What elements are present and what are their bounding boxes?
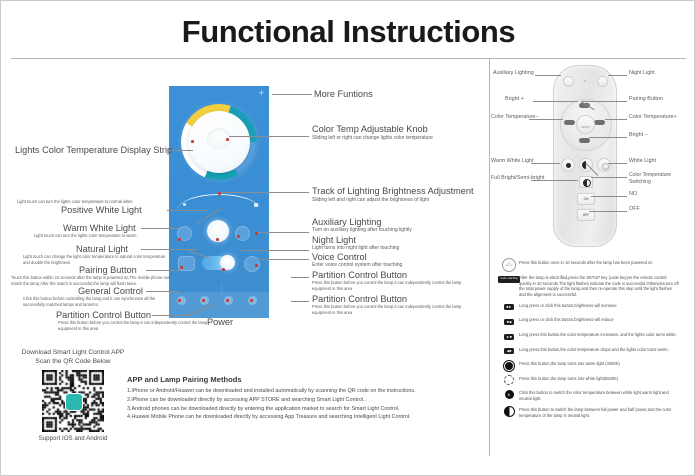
half-power-icon: [499, 406, 519, 417]
page-header: Functional Instructions: [1, 7, 695, 59]
hotspot-knob: [226, 138, 229, 141]
remote-label-bright-minus: Bright −: [629, 132, 648, 139]
color-temp-down-key-icon: ◀■: [499, 346, 519, 357]
callout-partition-left-desc: Press this button before you control the…: [58, 320, 208, 331]
slider-plus-icon: [254, 203, 258, 207]
list-item-text: Press this button once in 10 seconds aft…: [519, 259, 653, 266]
remote-label-auxiliary-lighting: Auxiliary Lighting: [493, 70, 534, 77]
remote-label-pairing-button: Pairing Button: [629, 96, 663, 103]
remote-label-white-light: White Light: [629, 158, 656, 165]
full-semi-bright-icon: [583, 179, 591, 187]
remote-label-warm-white: Warm White Light: [491, 158, 534, 165]
leader-color-temp-knob: [229, 136, 309, 137]
remote-label-color-temp-plus: Color Temperature+: [629, 114, 677, 121]
remote-label-color-temp-minus: Color Temperature−: [491, 114, 539, 121]
remote-indicator-led: [584, 80, 586, 82]
hotspot-partition-2: [226, 299, 229, 302]
setup-circle-icon: ☼ SETUP: [499, 259, 519, 270]
leader-power: [221, 283, 222, 317]
remote-label-full-bright-semi: Full Bright/Semi-bright: [491, 175, 544, 182]
callout-more-functions-label: More Funtions: [314, 89, 373, 99]
callout-partition-1-desc: Press this button before you control the…: [312, 280, 462, 291]
hotspot-pairing: [180, 266, 183, 269]
slider-minus-icon: [183, 203, 186, 206]
callout-night-light-label: Night Light: [312, 235, 356, 245]
app-btn-auxiliary[interactable]: [235, 226, 250, 241]
leader-remote-off: [589, 211, 627, 212]
callout-positive-white-desc: Light touch can turn the lights color te…: [17, 199, 133, 205]
hotspot-natural-light: [216, 238, 219, 241]
remote-label-night-light: Night Light: [629, 70, 655, 77]
code-matching-badge-icon: Code matching: [499, 274, 519, 285]
hotspot-partition-3: [250, 299, 253, 302]
list-item-text: Press this button to switch the lamp bet…: [519, 406, 681, 419]
list-item: K Click this button to switch the color …: [499, 389, 691, 402]
callout-color-temp-knob-desc: Sliding left or right can change lights …: [312, 135, 462, 142]
callout-warm-white-label: Warm White Light: [63, 223, 136, 233]
list-item: Code matching After the lamp is electrif…: [499, 274, 691, 299]
leader-night-light: [241, 250, 309, 251]
callout-voice-control-label: Voice Control: [312, 252, 367, 262]
list-item-text: Long press or click this button,brightne…: [519, 302, 617, 309]
callout-brightness-track-label: Track of Lighting Brightness Adjustment: [312, 186, 474, 196]
remote-btn-white-light[interactable]: [597, 158, 611, 172]
callout-partition-1-label: Partition Control Button: [312, 270, 407, 280]
warm-white-dot-icon: [566, 163, 571, 168]
pairing-heading: APP and Lamp Pairing Methods: [127, 375, 479, 384]
color-temp-up-key-icon: ►■: [499, 331, 519, 342]
callout-positive-white-label: Positive White Light: [61, 205, 142, 215]
callout-general-control-desc: Click this button before controlling the…: [23, 296, 173, 307]
callout-partition-2-label: Partition Control Button: [312, 294, 407, 304]
leader-remote-white-light: [608, 163, 627, 164]
brightness-slider[interactable]: [177, 194, 261, 206]
warm-light-dot-icon: [499, 360, 519, 371]
remote-label-on: NO: [629, 191, 637, 198]
pairing-item: 2.iPhone can be downloaded directly by a…: [127, 396, 479, 405]
list-item-text: Click this button to switch the color te…: [519, 389, 681, 402]
brightness-up-key-icon: ■►: [499, 302, 519, 313]
more-functions-icon[interactable]: +: [259, 89, 264, 98]
list-item: Press this button,the lamp turns into wh…: [499, 375, 691, 386]
leader-brightness-track: [221, 192, 309, 193]
color-temp-switch-icon: K: [499, 389, 519, 400]
remote-label-off: OFF: [629, 206, 640, 213]
remote-key-color-temp-minus[interactable]: [564, 120, 575, 125]
download-title-line1: Download Smart Light Control APP: [13, 349, 133, 358]
remote-body: SETUP ON OFF: [553, 65, 617, 247]
hotspot-auxiliary: [237, 235, 240, 238]
remote-label-bright-plus: Bright +: [505, 96, 524, 103]
list-item: ■► Long press or click this button,brigh…: [499, 302, 691, 313]
remote-btn-pairing-setup[interactable]: SETUP: [576, 115, 595, 134]
list-item-text: Press this button,the lamp turns into wa…: [519, 360, 620, 367]
qr-code: [42, 370, 104, 432]
hotspot-voice: [255, 264, 258, 267]
callout-power-label: Power: [207, 317, 233, 327]
leader-pairing: [146, 270, 181, 271]
pairing-methods-block: APP and Lamp Pairing Methods 1.iPhone or…: [127, 375, 479, 422]
remote-btn-auxiliary-lighting[interactable]: [563, 76, 574, 87]
callout-night-light-desc: Light turns into night light after touch…: [312, 245, 482, 252]
download-support-text: Support IOS and Android: [13, 435, 133, 442]
remote-btn-night-light[interactable]: [597, 76, 608, 87]
list-item: Press this button to switch the lamp bet…: [499, 406, 691, 419]
hotspot-partition-1: [202, 299, 205, 302]
hotspot-warm-white: [178, 238, 181, 241]
leader-remote-warm-white: [531, 163, 560, 164]
pairing-item: 1.iPhone or Android/Huawei can be downlo…: [127, 387, 479, 396]
leader-voice-control: [257, 259, 309, 260]
leader-remote-ct-switch: [591, 177, 627, 178]
remote-key-color-temp-plus[interactable]: [594, 120, 605, 125]
brightness-down-key-icon: ■◀: [499, 316, 519, 327]
hotspot-power: [222, 268, 225, 271]
leader-remote-bright-minus: [589, 137, 627, 138]
pairing-item: 3.Android phones can be downloaded direc…: [127, 405, 479, 414]
phone-app-mockup: +: [169, 86, 269, 318]
callout-natural-light-desc: Light touch can change the light color t…: [23, 254, 173, 265]
remote-on-label: ON: [578, 197, 594, 201]
callout-brightness-track-desc: Sliding left and right can adjust the br…: [312, 197, 482, 204]
list-item: Press this button,the lamp turns into wa…: [499, 360, 691, 371]
qr-center-logo: [65, 393, 83, 411]
leader-partition-2: [291, 301, 309, 302]
leader-partition-1: [291, 277, 309, 278]
callout-auxiliary-lighting-desc: Turn on auxiliary lighting after touchin…: [312, 227, 482, 234]
remote-off-label: OFF: [578, 213, 594, 217]
list-item: ■◀ Long press or click this button,brigh…: [499, 316, 691, 327]
leader-warm-white: [141, 228, 179, 229]
list-item-text: Long press this button,the color tempera…: [519, 346, 681, 353]
list-item: ☼ SETUP Press this button once in 10 sec…: [499, 259, 691, 270]
list-item: ►■ Long press this button,the color temp…: [499, 331, 691, 342]
callout-partition-left-label: Partition Control Button: [56, 310, 151, 320]
list-item-text: Long press this button,the color tempera…: [519, 331, 681, 338]
callout-natural-light-label: Natural Light: [76, 244, 128, 254]
leader-remote-pairing: [581, 101, 627, 102]
pairing-item: 4.Huawei Mobile Phone can be downloaded …: [127, 413, 479, 422]
callout-general-control-label: General Control: [78, 286, 143, 296]
remote-label-color-temp-switching: Color Temperature Switching: [629, 172, 685, 186]
list-item-text: Press this button,the lamp turns into wh…: [519, 375, 618, 382]
list-item: ◀■ Long press this button,the color temp…: [499, 346, 691, 357]
leader-display-strip: [167, 150, 193, 151]
leader-remote-bright-plus: [533, 101, 578, 102]
instruction-sheet: Functional Instructions +: [0, 0, 695, 476]
remote-control-diagram: SETUP ON OFF A: [491, 59, 695, 249]
leader-remote-on: [591, 196, 627, 197]
leader-more-functions: [272, 94, 312, 95]
panel-divider: [489, 58, 490, 456]
download-app-block: Download Smart Light Control APP Scan th…: [13, 349, 133, 442]
setup-icon-label: SETUP: [505, 265, 512, 267]
list-item-text: After the lamp is electrified,press the …: [519, 274, 679, 299]
remote-function-list: ☼ SETUP Press this button once in 10 sec…: [499, 259, 691, 422]
code-matching-badge-label: Code matching: [498, 276, 520, 283]
remote-btn-warm-white-light[interactable]: [561, 158, 575, 172]
callout-partition-2-desc: Press this button before you control the…: [312, 304, 462, 315]
leader-remote-auxiliary: [535, 75, 561, 76]
leader-general-control: [146, 291, 179, 292]
leader-auxiliary-lighting: [258, 232, 309, 233]
hotspot-general-control: [178, 299, 181, 302]
callout-pairing-label: Pairing Button: [79, 265, 137, 275]
download-title-line2: Scan the QR Code Below: [13, 358, 133, 367]
callout-auxiliary-lighting-label: Auxiliary Lighting: [312, 217, 381, 227]
remote-btn-on[interactable]: ON: [577, 193, 595, 205]
list-item-text: Long press or click this button,brightne…: [519, 316, 614, 323]
app-btn-pairing[interactable]: [178, 256, 195, 271]
callout-voice-control-desc: Enter voice control system after touchin…: [312, 262, 482, 269]
leader-positive-white: [167, 210, 208, 211]
remote-key-bright-minus[interactable]: [579, 138, 590, 143]
hotspot-display-strip: [191, 140, 194, 143]
white-light-dot-icon: [499, 375, 519, 386]
callout-warm-white-desc: Light touch can turn the lights color te…: [34, 233, 136, 239]
callout-color-temp-knob-label: Color Temp Adjustable Knob: [312, 124, 428, 134]
callout-pairing-desc: Touch this button within 10 seconds afte…: [11, 275, 171, 286]
remote-setup-label: SETUP: [577, 126, 594, 129]
leader-remote-ct-plus: [605, 119, 627, 120]
page-title: Functional Instructions: [1, 7, 695, 57]
callout-display-strip-label: Lights Color Temperature Display Strip: [15, 145, 172, 155]
leader-remote-night-light: [608, 75, 627, 76]
knob-face[interactable]: [188, 111, 250, 173]
